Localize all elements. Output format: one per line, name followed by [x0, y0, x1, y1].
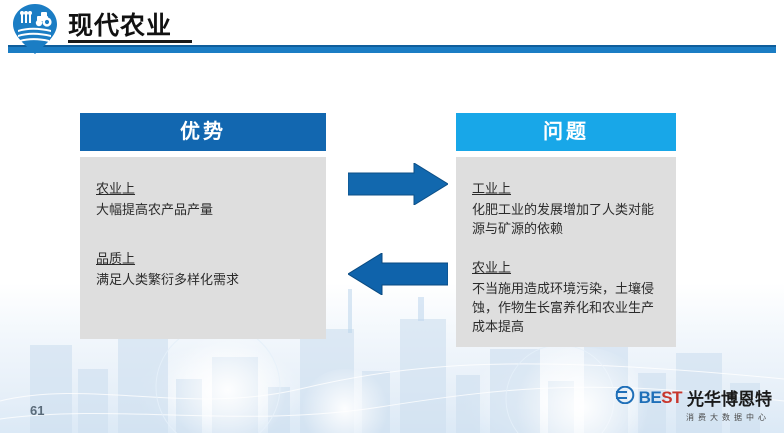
farm-pin-icon — [11, 3, 59, 55]
page-title: 现代农业 — [68, 6, 172, 42]
list-item: 农业上 不当施用造成环境污染，土壤侵蚀，作物生长富养化和农业生产成本提高 — [472, 258, 660, 336]
brand-glyph-icon — [614, 386, 636, 409]
header-accent-bar-top — [8, 45, 776, 47]
block-title: 工业上 — [472, 179, 660, 198]
block-title: 品质上 — [96, 249, 310, 268]
brand-logo: BEST 光华博恩特 消费大数据中心 — [614, 385, 772, 423]
column-problems-body: 工业上 化肥工业的发展增加了人类对能源与矿源的依赖 农业上 不当施用造成环境污染… — [456, 157, 676, 347]
column-advantages-body: 农业上 大幅提高农产品产量 品质上 满足人类繁衍多样化需求 — [80, 157, 326, 339]
column-advantages-heading: 优势 — [80, 113, 326, 151]
arrow-right-icon — [348, 163, 448, 205]
page-number: 61 — [30, 403, 44, 418]
block-title: 农业上 — [472, 258, 660, 277]
arrow-left-icon — [348, 253, 448, 295]
block-text: 大幅提高农产品产量 — [96, 200, 310, 219]
block-text: 不当施用造成环境污染，土壤侵蚀，作物生长富养化和农业生产成本提高 — [472, 279, 660, 336]
list-item: 工业上 化肥工业的发展增加了人类对能源与矿源的依赖 — [472, 179, 660, 238]
block-title: 农业上 — [96, 179, 310, 198]
list-item: 农业上 大幅提高农产品产量 — [96, 179, 310, 219]
brand-mark: BEST — [639, 388, 682, 408]
block-text: 化肥工业的发展增加了人类对能源与矿源的依赖 — [472, 200, 660, 238]
column-problems-heading: 问题 — [456, 113, 676, 151]
list-item: 品质上 满足人类繁衍多样化需求 — [96, 249, 310, 289]
slide: 现代农业 优势 农业上 大幅提高农产品产量 品质上 满足人类繁衍多样化需求 问题… — [0, 0, 784, 433]
brand-subtitle: 消费大数据中心 — [614, 412, 770, 423]
page-title-underline — [68, 40, 192, 43]
block-text: 满足人类繁衍多样化需求 — [96, 270, 310, 289]
column-advantages: 优势 农业上 大幅提高农产品产量 品质上 满足人类繁衍多样化需求 — [80, 113, 326, 339]
brand-name: 光华博恩特 — [687, 385, 772, 410]
column-problems: 问题 工业上 化肥工业的发展增加了人类对能源与矿源的依赖 农业上 不当施用造成环… — [456, 113, 676, 347]
